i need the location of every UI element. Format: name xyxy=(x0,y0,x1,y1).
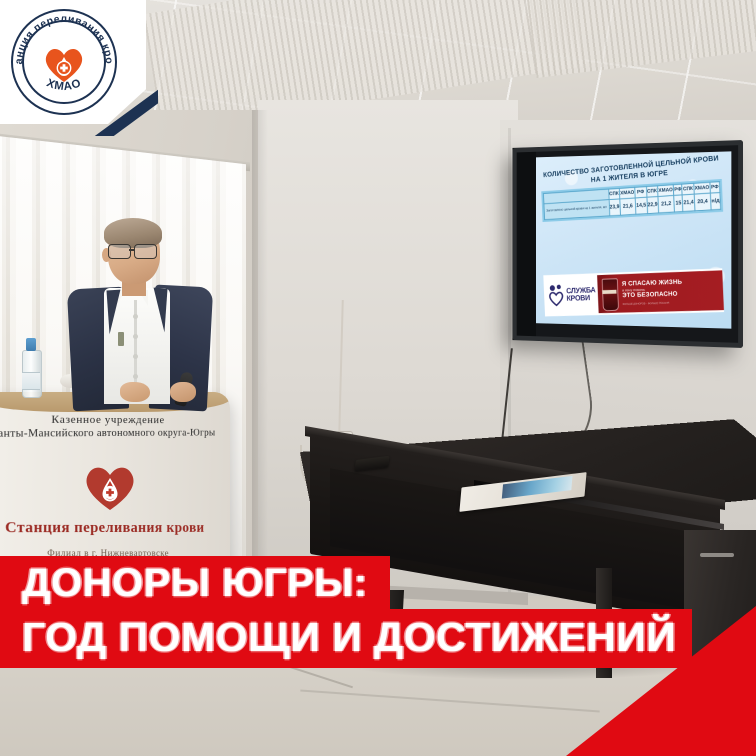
shirt-button xyxy=(133,354,138,359)
glasses-lens-right xyxy=(134,244,157,259)
hand-left xyxy=(120,382,150,402)
eyeglasses-icon xyxy=(108,244,162,258)
shirt-button xyxy=(133,374,138,379)
table-col-header: СПК xyxy=(608,188,620,199)
headline-line-1: ДОНОРЫ ЮГРЫ: xyxy=(0,556,390,611)
table-col-header: РФ xyxy=(673,184,682,195)
poster-text-block: Я СПАСАЮ ЖИЗНЬ я хочу помочь ЭТО БЕЗОПАС… xyxy=(619,278,683,306)
bottle-label xyxy=(22,372,40,390)
table-col-header: СПК xyxy=(646,186,658,197)
blood-bag-icon xyxy=(599,276,620,311)
table-cell: 21,4 xyxy=(682,194,694,211)
jacket-lapel-left xyxy=(106,290,123,335)
podium-line-2: Ханты-Мансийского автономного округа-Югр… xyxy=(0,428,221,440)
wall-corner-shading xyxy=(252,110,268,630)
donor-campaign-poster: Я СПАСАЮ ЖИЗНЬ я хочу помочь ЭТО БЕЗОПАС… xyxy=(597,270,724,313)
blood-bag-label xyxy=(603,290,617,294)
two-figures-heart-icon xyxy=(547,284,565,307)
slide-bottom-banner: СЛУЖБА КРОВИ Я СПАСАЮ ЖИЗНЬ я х xyxy=(543,268,724,316)
tv-screen-dark-edge xyxy=(513,147,536,341)
table-cell: 23,9 xyxy=(609,199,621,216)
bottle-cap xyxy=(26,338,36,351)
hand-right xyxy=(170,382,196,402)
table-cell: н/д xyxy=(710,192,720,209)
poster-line-4: БОЛЬШЕ ДОНОРОВ – БОЛЬШЕ РОССИЯ xyxy=(623,301,683,306)
station-logo: Станция переливания крови ХМАО xyxy=(10,8,118,116)
table-cell: 20,4 xyxy=(694,193,711,211)
sluzhba-krovi-wordmark: СЛУЖБА КРОВИ xyxy=(566,286,596,303)
shirt-button xyxy=(133,334,138,339)
logo-badge: Станция переливания крови ХМАО xyxy=(0,0,146,124)
table-col-header: СПК xyxy=(682,183,694,195)
podium-line-3: Станция переливания крови xyxy=(0,519,222,537)
table-cell: 22,9 xyxy=(647,196,659,213)
glasses-bridge xyxy=(129,249,134,251)
wall-mounted-tv: КОЛИЧЕСТВО ЗАГОТОВЛЕННОЙ ЦЕЛЬНОЙ КРОВИ Н… xyxy=(513,140,743,348)
shirt-button xyxy=(133,314,138,319)
table-cell: 21,6 xyxy=(620,198,636,215)
cabinet-handle xyxy=(700,553,734,557)
blood-bag-body xyxy=(602,278,619,311)
podium-heart-icon xyxy=(81,458,139,512)
table-row-label: Заготовлено цельной крови на 1 жителя, м… xyxy=(544,200,609,220)
table-cell: 21,2 xyxy=(658,195,675,213)
table-cell: 14,5 xyxy=(635,197,647,214)
water-bottle xyxy=(22,338,40,396)
presenter xyxy=(56,222,236,412)
podium-line-1: Казенное учреждение xyxy=(0,413,221,426)
tv-screen: КОЛИЧЕСТВО ЗАГОТОВЛЕННОЙ ЦЕЛЬНОЙ КРОВИ Н… xyxy=(536,151,731,328)
headline-line-2: ГОД ПОМОЩИ И ДОСТИЖЕНИЙ xyxy=(0,609,692,668)
sk-line-2: КРОВИ xyxy=(566,294,595,303)
poster-canvas: КОЛИЧЕСТВО ЗАГОТОВЛЕННОЙ ЦЕЛЬНОЙ КРОВИ Н… xyxy=(0,0,756,756)
sluzhba-krovi-logo: СЛУЖБА КРОВИ xyxy=(544,283,596,307)
poster-line-3: ЭТО БЕЗОПАСНО xyxy=(622,291,683,300)
presentation-slide: КОЛИЧЕСТВО ЗАГОТОВЛЕННОЙ ЦЕЛЬНОЙ КРОВИ Н… xyxy=(536,151,731,326)
podium-header-text: Казенное учреждение Ханты-Мансийского ав… xyxy=(0,413,221,440)
lanyard-badge xyxy=(118,332,124,346)
table-col-header: РФ xyxy=(710,182,720,194)
glasses-lens-left xyxy=(108,244,131,259)
table-col-header: РФ xyxy=(635,187,647,198)
